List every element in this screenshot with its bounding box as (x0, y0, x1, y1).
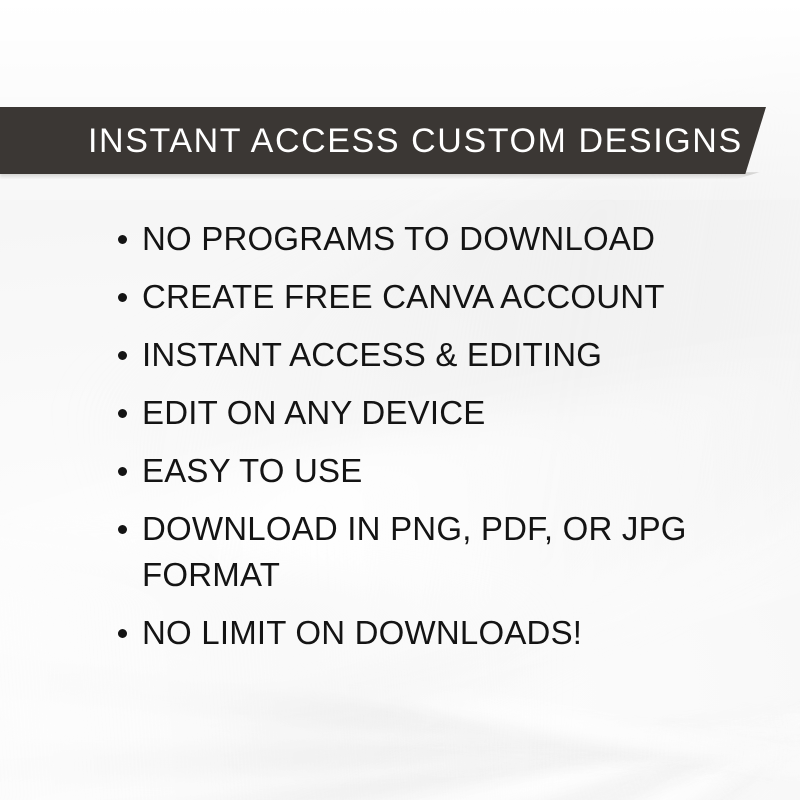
bullet-icon (118, 409, 127, 418)
list-item: INSTANT ACCESS & EDITING (118, 332, 718, 378)
header-banner: INSTANT ACCESS CUSTOM DESIGNS (0, 107, 766, 174)
bullet-icon (118, 293, 127, 302)
list-item-label: NO PROGRAMS TO DOWNLOAD (142, 220, 655, 257)
bullet-icon (118, 235, 127, 244)
bullet-icon (118, 467, 127, 476)
bullet-icon (118, 525, 127, 534)
list-item-label: DOWNLOAD IN PNG, PDF, OR JPG FORMAT (142, 510, 687, 593)
list-item: EDIT ON ANY DEVICE (118, 390, 718, 436)
list-item-label: EDIT ON ANY DEVICE (142, 394, 485, 431)
list-item: NO LIMIT ON DOWNLOADS! (118, 610, 718, 656)
list-item-label: EASY TO USE (142, 452, 362, 489)
list-item: DOWNLOAD IN PNG, PDF, OR JPG FORMAT (118, 506, 718, 598)
list-item-label: CREATE FREE CANVA ACCOUNT (142, 278, 665, 315)
feature-list: NO PROGRAMS TO DOWNLOAD CREATE FREE CANV… (118, 216, 718, 668)
bullet-icon (118, 629, 127, 638)
list-item-label: INSTANT ACCESS & EDITING (142, 336, 602, 373)
list-item: CREATE FREE CANVA ACCOUNT (118, 274, 718, 320)
list-item: NO PROGRAMS TO DOWNLOAD (118, 216, 718, 262)
list-item: EASY TO USE (118, 448, 718, 494)
bullet-icon (118, 351, 127, 360)
promo-graphic: INSTANT ACCESS CUSTOM DESIGNS NO PROGRAM… (0, 0, 800, 800)
page-title: INSTANT ACCESS CUSTOM DESIGNS (88, 124, 743, 158)
list-item-label: NO LIMIT ON DOWNLOADS! (142, 614, 582, 651)
